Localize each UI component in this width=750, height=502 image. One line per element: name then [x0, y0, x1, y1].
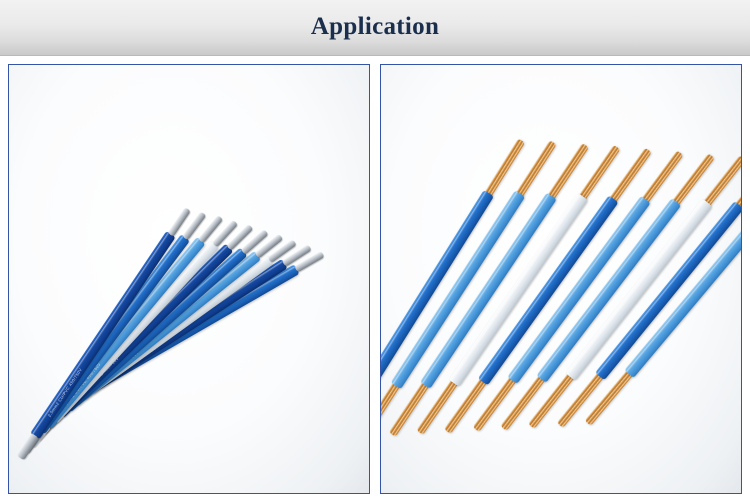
banner: Application	[0, 0, 750, 56]
right-photo-frame	[380, 64, 742, 494]
page-title: Application	[311, 14, 439, 42]
photo-row: 2.5mm2 CU/PVC 450/750V2.5mm2 CU/PVC 450/…	[0, 56, 750, 502]
left-photo-frame: 2.5mm2 CU/PVC 450/750V2.5mm2 CU/PVC 450/…	[8, 64, 370, 494]
right-photo	[381, 65, 741, 493]
left-photo: 2.5mm2 CU/PVC 450/750V2.5mm2 CU/PVC 450/…	[9, 65, 369, 493]
application-image-page: Application 2.5mm2 CU/PVC 450/750V2.5mm2…	[0, 0, 750, 502]
